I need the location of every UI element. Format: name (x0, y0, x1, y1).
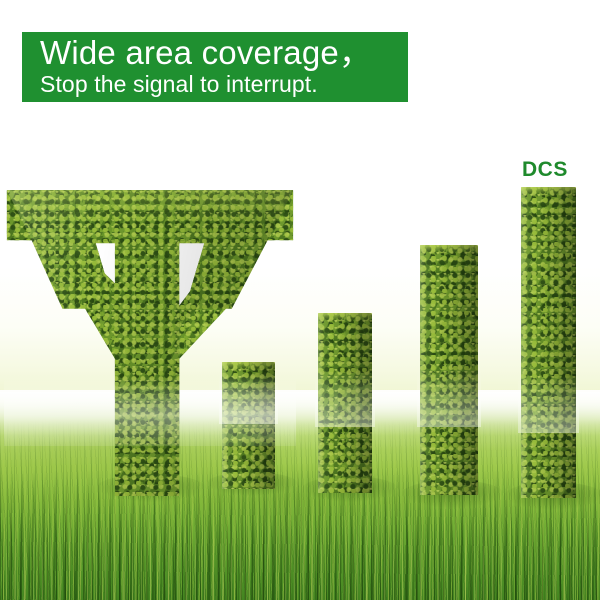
bar-2 (318, 313, 372, 493)
bar-4-dcs (521, 187, 576, 498)
poster-canvas: DCS Wide area coverage， Stop the signal … (0, 0, 600, 600)
bar-4-shading (521, 187, 576, 498)
bar-3 (420, 245, 478, 495)
headline-banner: Wide area coverage， Stop the signal to i… (22, 32, 408, 102)
banner-headline: Wide area coverage， (40, 33, 372, 73)
signal-antenna-topiary (4, 184, 296, 496)
bar-3-shading (420, 245, 478, 495)
banner-subheadline: Stop the signal to interrupt. (40, 70, 318, 98)
dcs-label: DCS (522, 158, 568, 182)
bar-2-shading (318, 313, 372, 493)
